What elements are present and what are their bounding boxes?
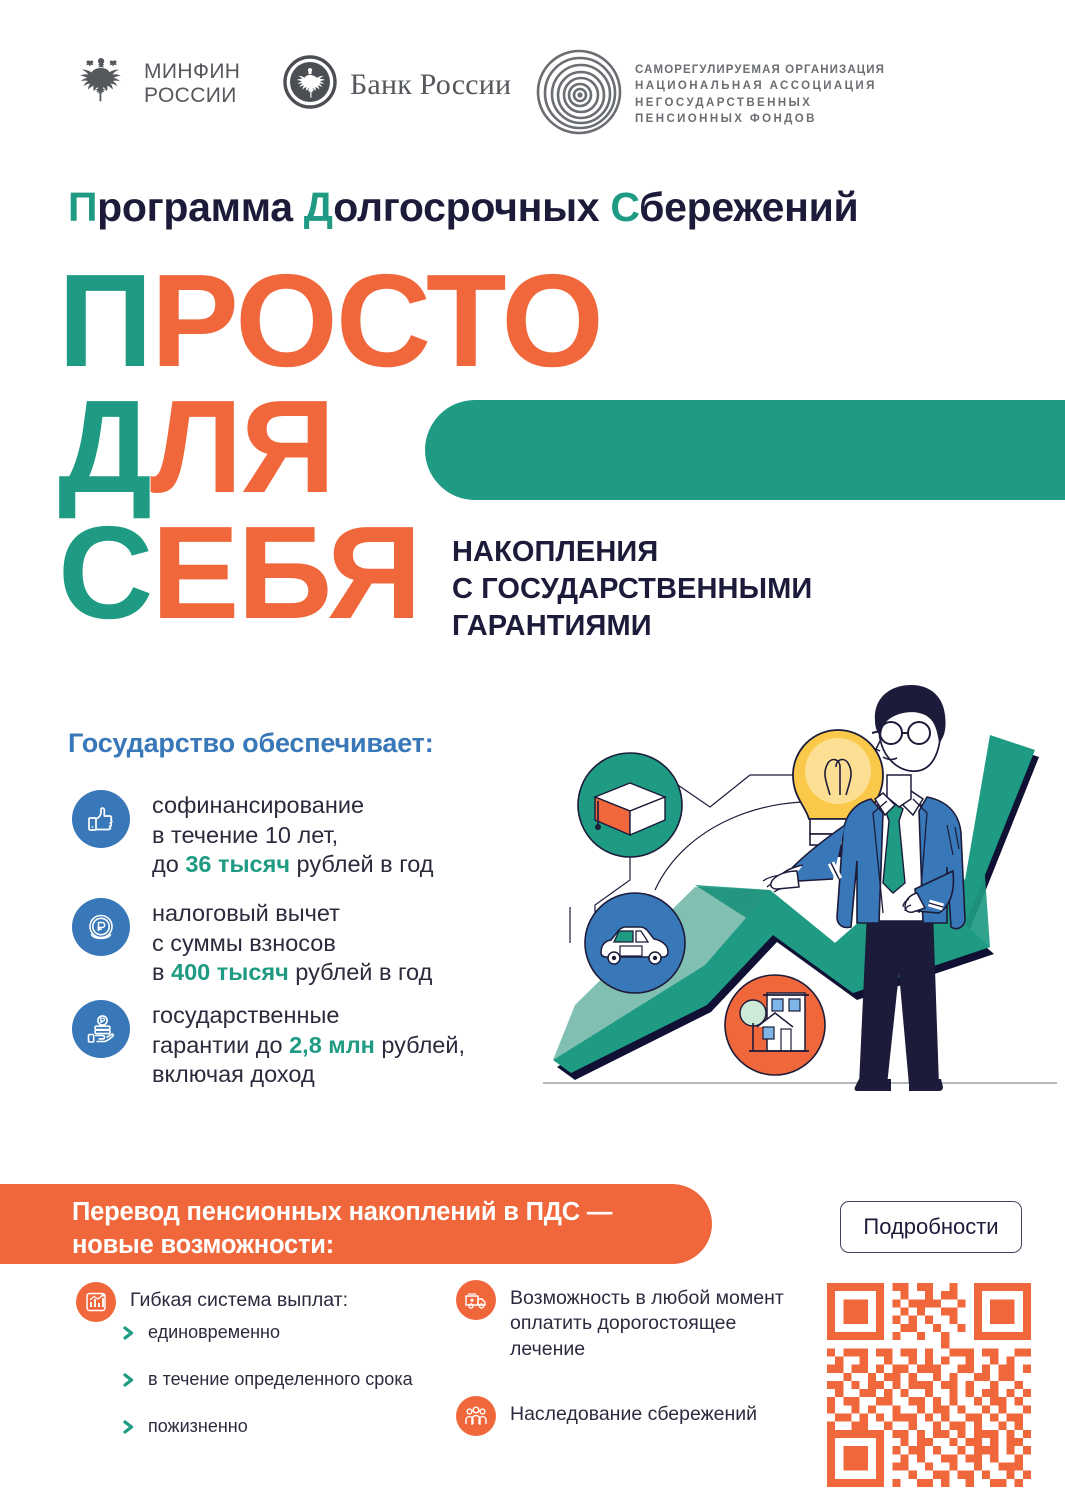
benefit-3-post: рублей, (375, 1032, 465, 1058)
benefit-2-line-2: с суммы взносов (152, 929, 432, 959)
headline-word-2-initial: Д (58, 373, 150, 520)
benefit-1-amount: 36 тысяч (185, 851, 290, 877)
hand-with-coins-icon (72, 1000, 130, 1058)
benefit-3-pre: гарантии до (152, 1032, 289, 1058)
pension-transfer-banner-text: Перевод пенсионных накоплений в ПДС — но… (72, 1196, 612, 1262)
ambulance-icon (456, 1280, 496, 1320)
cbr-label: Банк России (350, 68, 511, 102)
feature-medical-line-2: оплатить дорогостоящее (510, 1311, 784, 1336)
benefit-item-cofinancing-text: софинансирование в течение 10 лет, до 36… (152, 790, 434, 880)
headline-word-3-rest: ЕБЯ (151, 499, 420, 646)
thumbs-up-icon (72, 790, 130, 848)
feature-medical-treatment: Возможность в любой момент оплатить доро… (456, 1280, 784, 1362)
headline-word-3: СЕБЯ (58, 508, 420, 637)
payout-option-item: в течение определенного срока (122, 1369, 413, 1390)
headline-word-1-rest: РОСТО (151, 247, 602, 394)
program-title: Программа Долгосрочных Сбережений (68, 184, 858, 231)
benefits-heading: Государство обеспечивает: (68, 728, 434, 759)
payout-options-list: единовременно в течение определенного ср… (122, 1322, 413, 1463)
subheadline: НАКОПЛЕНИЯ С ГОСУДАРСТВЕННЫМИ ГАРАНТИЯМИ (452, 534, 812, 645)
program-title-p1: П (68, 184, 97, 230)
minfin-line-1: МИНФИН (144, 60, 240, 84)
feature-flexible-payouts: Гибкая система выплат: (76, 1282, 348, 1322)
poster-root: МИНФИН РОССИИ Банк России (0, 0, 1065, 1500)
banner-line-1: Перевод пенсионных накоплений в ПДС — (72, 1196, 612, 1229)
payout-option-item: единовременно (122, 1322, 413, 1343)
benefit-3-line-2: гарантии до 2,8 млн рублей, (152, 1031, 465, 1061)
details-button[interactable]: Подробности (840, 1201, 1022, 1253)
headline-word-1-initial: П (58, 247, 151, 394)
benefit-item-cofinancing: софинансирование в течение 10 лет, до 36… (72, 790, 434, 880)
banner-line-2: новые возможности: (72, 1229, 612, 1262)
teal-accent-bar (425, 400, 1065, 500)
feature-flexible-payouts-title: Гибкая система выплат: (130, 1282, 348, 1313)
feature-inheritance: Наследование сбережений (456, 1396, 757, 1436)
benefit-2-post: рублей в год (289, 959, 433, 985)
benefit-1-pre: до (152, 851, 185, 877)
logo-bar: МИНФИН РОССИИ Банк России (0, 42, 1065, 147)
logo-napf: САМОРЕГУЛИРУЕМАЯ ОРГАНИЗАЦИЯ НАЦИОНАЛЬНА… (535, 48, 885, 141)
napf-line-1: САМОРЕГУЛИРУЕМАЯ ОРГАНИЗАЦИЯ (635, 62, 885, 78)
illustration (535, 675, 1065, 1115)
feature-inheritance-text: Наследование сбережений (510, 1396, 757, 1427)
growth-chart-icon (76, 1282, 116, 1322)
benefit-3-line-3: включая доход (152, 1060, 465, 1090)
payout-option-item: пожизненно (122, 1416, 413, 1437)
headline-word-2: ДЛЯ (58, 382, 334, 511)
qr-code[interactable] (827, 1283, 1031, 1487)
spiral-icon (535, 48, 623, 141)
family-icon (456, 1396, 496, 1436)
logo-bank-rossii: Банк России (282, 54, 511, 115)
benefit-2-pre: в (152, 959, 171, 985)
benefit-3-amount: 2,8 млн (289, 1032, 375, 1058)
benefit-3-line-1: государственные (152, 1001, 465, 1031)
subheadline-line-1: НАКОПЛЕНИЯ (452, 534, 812, 571)
feature-medical-line-1: Возможность в любой момент (510, 1286, 784, 1311)
benefit-item-state-guarantees: государственные гарантии до 2,8 млн рубл… (72, 1000, 465, 1090)
benefit-1-line-3: до 36 тысяч рублей в год (152, 850, 434, 880)
napf-line-3: НЕГОСУДАРСТВЕННЫХ (635, 95, 885, 111)
program-title-p4: олгосрочных (333, 184, 610, 230)
program-title-p3: Д (304, 184, 333, 230)
ruble-coin-icon (72, 898, 130, 956)
headline-word-2-rest: ЛЯ (150, 373, 334, 520)
napf-line-2: НАЦИОНАЛЬНАЯ АССОЦИАЦИЯ (635, 78, 885, 94)
napf-line-4: ПЕНСИОННЫХ ФОНДОВ (635, 111, 885, 127)
napf-label: САМОРЕГУЛИРУЕМАЯ ОРГАНИЗАЦИЯ НАЦИОНАЛЬНА… (635, 62, 885, 127)
benefit-item-tax-deduction: налоговый вычет с суммы взносов в 400 ты… (72, 898, 432, 988)
benefit-1-line-2: в течение 10 лет, (152, 821, 434, 851)
benefit-item-tax-deduction-text: налоговый вычет с суммы взносов в 400 ты… (152, 898, 432, 988)
program-title-p6: бережений (639, 184, 858, 230)
program-title-p2: рограмма (97, 184, 304, 230)
program-title-p5: С (610, 184, 639, 230)
logo-minfin-label: МИНФИН РОССИИ (144, 60, 240, 107)
headline-word-3-initial: С (58, 499, 151, 646)
payout-option-label: в течение определенного срока (148, 1369, 413, 1390)
subheadline-line-3: ГАРАНТИЯМИ (452, 608, 812, 645)
headline-word-1: ПРОСТО (58, 256, 602, 385)
feature-medical-treatment-text: Возможность в любой момент оплатить доро… (510, 1280, 784, 1362)
chevron-right-icon (122, 1419, 136, 1435)
benefit-2-line-1: налоговый вычет (152, 899, 432, 929)
subheadline-line-2: С ГОСУДАРСТВЕННЫМИ (452, 571, 812, 608)
double-headed-eagle-icon (70, 50, 132, 117)
benefit-2-line-3: в 400 тысяч рублей в год (152, 958, 432, 988)
benefit-1-line-1: софинансирование (152, 791, 434, 821)
cbr-eagle-icon (282, 54, 338, 115)
chevron-right-icon (122, 1372, 136, 1388)
chevron-right-icon (122, 1325, 136, 1341)
benefit-item-state-guarantees-text: государственные гарантии до 2,8 млн рубл… (152, 1000, 465, 1090)
benefit-1-post: рублей в год (290, 851, 434, 877)
benefit-2-amount: 400 тысяч (171, 959, 289, 985)
payout-option-label: пожизненно (148, 1416, 248, 1437)
logo-minfin: МИНФИН РОССИИ (70, 50, 240, 117)
minfin-line-2: РОССИИ (144, 84, 240, 108)
feature-medical-line-3: лечение (510, 1337, 784, 1362)
payout-option-label: единовременно (148, 1322, 280, 1343)
